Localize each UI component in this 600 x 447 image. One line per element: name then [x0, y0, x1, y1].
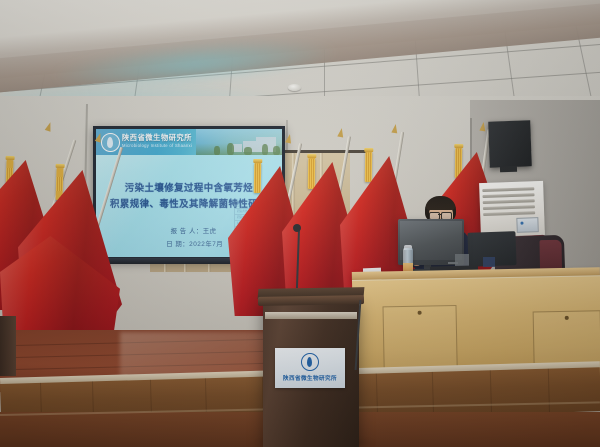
flag-tassel	[254, 163, 262, 193]
slide-header-banner: 陕西省微生物研究所 Microbiology Institute of Shaa…	[96, 129, 282, 155]
podium-accent-band	[265, 312, 357, 319]
presenter-fringe	[426, 199, 455, 210]
flag-tassel	[308, 158, 316, 189]
institute-emblem-icon	[101, 133, 120, 152]
podium-sign: 陕西省微生物研究所	[275, 348, 345, 388]
campus-photo	[196, 129, 282, 155]
outline-row: 研究背景	[237, 209, 247, 213]
podium-sign-text: 陕西省微生物研究所	[275, 374, 345, 382]
slide-date-label: 日 期：2022年7月	[166, 239, 223, 248]
slide-org-name-cn: 陕西省微生物研究所	[122, 133, 192, 143]
ac-status-led-icon	[520, 222, 523, 225]
microphone-icon	[293, 224, 301, 232]
flag-tassel	[365, 152, 373, 182]
speaker-bracket	[500, 166, 517, 173]
desk-object	[455, 254, 469, 266]
slide-presenter-label: 报 告 人：王虎	[171, 226, 217, 235]
outline-row: 目录	[237, 203, 242, 207]
air-conditioner-unit[interactable]	[479, 181, 545, 237]
slide-org-name-en: Microbiology Institute of Shaanxi	[122, 143, 192, 148]
desk-object	[483, 257, 495, 267]
flag-finial-icon	[479, 122, 486, 132]
left-wall-pillar	[0, 316, 16, 376]
wall-speaker	[488, 120, 532, 167]
institute-emblem-icon	[301, 353, 319, 371]
eyeglasses-bridge	[438, 214, 441, 215]
ac-control-panel[interactable]	[516, 217, 539, 233]
conference-room-photo: 陕西省微生物研究所 Microbiology Institute of Shaa…	[0, 0, 600, 447]
podium-top-edge	[258, 295, 364, 306]
smoke-detector-icon	[288, 84, 301, 91]
